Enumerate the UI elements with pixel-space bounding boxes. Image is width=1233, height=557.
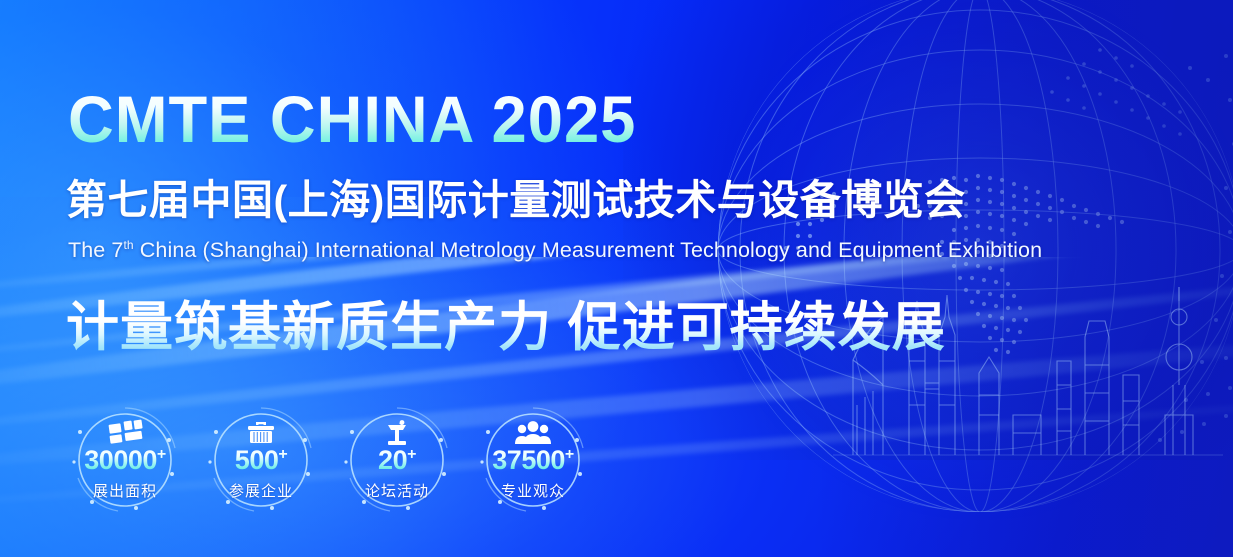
stat-plus: + <box>278 446 287 463</box>
stat-badge-exhibitors: 500+ 参展企业 <box>202 404 320 516</box>
stat-plus: + <box>407 446 416 463</box>
stat-label: 专业观众 <box>474 480 592 501</box>
title-english-ordinal-suffix: th <box>123 238 133 252</box>
stats-row: 30000+ 展出面积 <box>66 404 592 516</box>
stat-label: 参展企业 <box>202 480 320 501</box>
title-english-prefix: The 7 <box>68 238 123 262</box>
stat-value: 37500+ <box>474 447 592 474</box>
slogan-text: 计量筑基新质生产力 促进可持续发展 <box>66 298 946 357</box>
stat-number: 500 <box>235 445 279 475</box>
stat-number: 37500 <box>492 445 565 475</box>
stat-badge-visitors: 37500+ 专业观众 <box>474 404 592 516</box>
stat-number: 20 <box>378 445 407 475</box>
stat-badge-exhibition-area: 30000+ 展出面积 <box>66 404 184 516</box>
stat-number: 30000 <box>84 445 157 475</box>
stat-plus: + <box>565 446 574 463</box>
title-english-rest: China (Shanghai) International Metrology… <box>134 238 1042 262</box>
stat-value: 20+ <box>338 447 456 474</box>
event-banner: CMTE CHINA 2025 第七届中国(上海)国际计量测试技术与设备博览会 … <box>0 0 1233 557</box>
stat-value: 30000+ <box>66 447 184 474</box>
stat-value: 500+ <box>202 447 320 474</box>
title-chinese: 第七届中国(上海)国际计量测试技术与设备博览会 <box>66 178 966 223</box>
page-title: CMTE CHINA 2025 <box>68 86 636 152</box>
stat-label: 论坛活动 <box>338 480 456 501</box>
title-english: The 7th China (Shanghai) International M… <box>68 238 1042 263</box>
stat-label: 展出面积 <box>66 480 184 501</box>
stat-badge-forums: 20+ 论坛活动 <box>338 404 456 516</box>
slogan: 计量筑基新质生产力 促进可持续发展 <box>66 298 946 359</box>
stat-plus: + <box>157 446 166 463</box>
